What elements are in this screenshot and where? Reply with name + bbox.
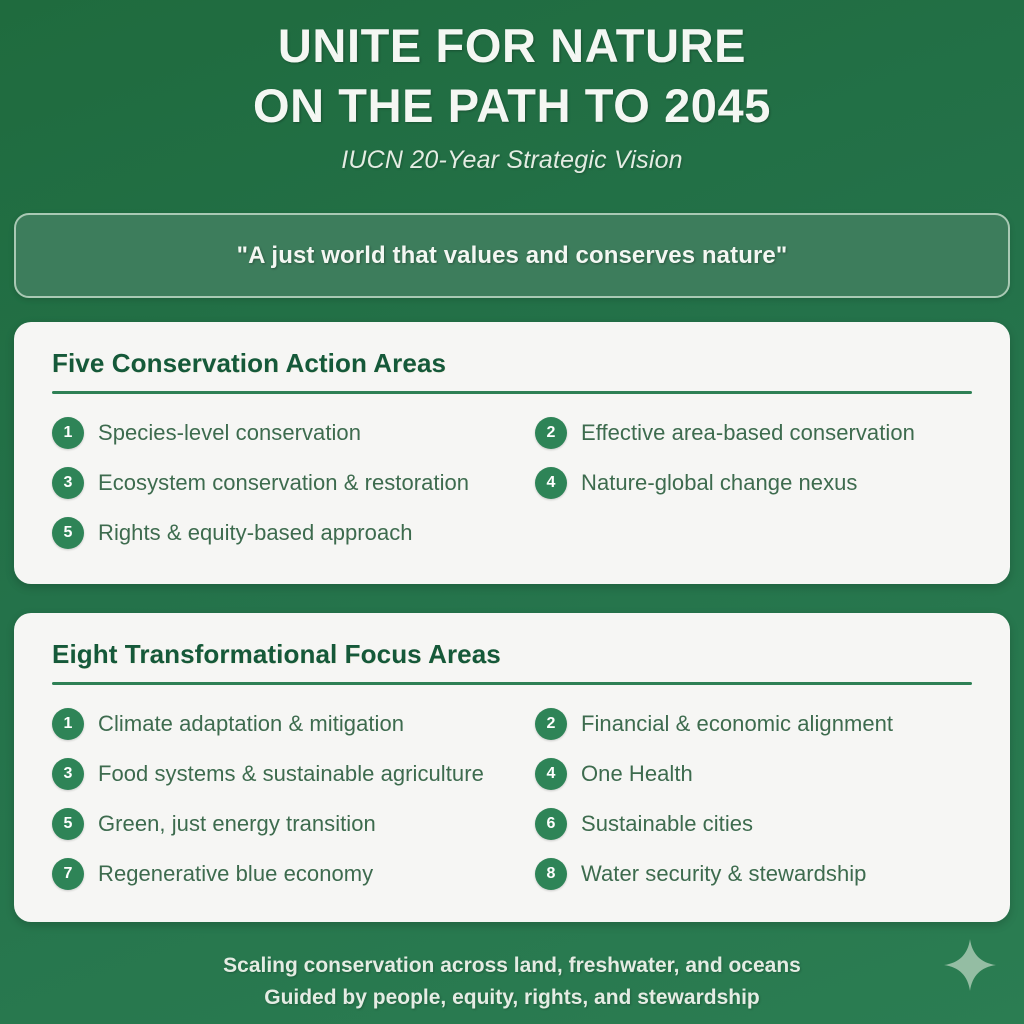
action-areas-list: 1 Species-level conservation 2 Effective… xyxy=(40,408,984,558)
list-item[interactable]: 5 Rights & equity-based approach xyxy=(52,508,535,558)
title-line-1: UNITE FOR NATURE xyxy=(0,16,1024,76)
card-heading-divider xyxy=(52,391,972,394)
sparkle-icon xyxy=(943,938,997,992)
list-item-label: Species-level conservation xyxy=(98,420,361,446)
list-item-label: Food systems & sustainable agriculture xyxy=(98,761,484,787)
list-item-label: Sustainable cities xyxy=(581,811,753,837)
list-item-label: Nature-global change nexus xyxy=(581,470,857,496)
transformational-focus-areas-card: Eight Transformational Focus Areas 1 Cli… xyxy=(14,613,1010,922)
list-item[interactable]: 3 Ecosystem conservation & restoration xyxy=(52,458,535,508)
item-number-badge: 8 xyxy=(535,858,567,890)
list-item[interactable]: 7 Regenerative blue economy xyxy=(52,849,535,899)
list-item-label: Regenerative blue economy xyxy=(98,861,373,887)
card-heading-divider xyxy=(52,682,972,685)
footer-line-1: Scaling conservation across land, freshw… xyxy=(0,950,1024,982)
list-item[interactable]: 8 Water security & stewardship xyxy=(535,849,984,899)
poster-subtitle: IUCN 20-Year Strategic Vision xyxy=(0,146,1024,175)
list-item-label: Financial & economic alignment xyxy=(581,711,893,737)
list-item-spacer xyxy=(535,508,984,558)
list-item[interactable]: 6 Sustainable cities xyxy=(535,799,984,849)
list-item-label: Green, just energy transition xyxy=(98,811,376,837)
item-number-badge: 3 xyxy=(52,758,84,790)
item-number-badge: 5 xyxy=(52,517,84,549)
list-item[interactable]: 2 Financial & economic alignment xyxy=(535,699,984,749)
list-item-label: Ecosystem conservation & restoration xyxy=(98,470,469,496)
list-item[interactable]: 3 Food systems & sustainable agriculture xyxy=(52,749,535,799)
list-item-label: Rights & equity-based approach xyxy=(98,520,413,546)
list-item[interactable]: 1 Climate adaptation & mitigation xyxy=(52,699,535,749)
list-item[interactable]: 5 Green, just energy transition xyxy=(52,799,535,849)
item-number-badge: 2 xyxy=(535,417,567,449)
card-heading-focus-areas: Eight Transformational Focus Areas xyxy=(40,639,984,670)
item-number-badge: 4 xyxy=(535,467,567,499)
item-number-badge: 1 xyxy=(52,417,84,449)
item-number-badge: 3 xyxy=(52,467,84,499)
item-number-badge: 2 xyxy=(535,708,567,740)
vision-statement-text: "A just world that values and conserves … xyxy=(237,242,788,270)
list-item[interactable]: 1 Species-level conservation xyxy=(52,408,535,458)
title-line-2: ON THE PATH TO 2045 xyxy=(0,76,1024,136)
poster-footer: Scaling conservation across land, freshw… xyxy=(0,950,1024,1013)
conservation-action-areas-card: Five Conservation Action Areas 1 Species… xyxy=(14,322,1010,584)
vision-statement-banner: "A just world that values and conserves … xyxy=(14,213,1010,298)
focus-areas-list: 1 Climate adaptation & mitigation 2 Fina… xyxy=(40,699,984,899)
item-number-badge: 1 xyxy=(52,708,84,740)
list-item[interactable]: 4 One Health xyxy=(535,749,984,799)
infographic-poster: UNITE FOR NATURE ON THE PATH TO 2045 IUC… xyxy=(0,0,1024,1024)
list-item-label: Effective area-based conservation xyxy=(581,420,915,446)
item-number-badge: 5 xyxy=(52,808,84,840)
item-number-badge: 4 xyxy=(535,758,567,790)
list-item-label: Water security & stewardship xyxy=(581,861,866,887)
footer-line-2: Guided by people, equity, rights, and st… xyxy=(0,982,1024,1014)
item-number-badge: 6 xyxy=(535,808,567,840)
list-item[interactable]: 2 Effective area-based conservation xyxy=(535,408,984,458)
poster-header: UNITE FOR NATURE ON THE PATH TO 2045 IUC… xyxy=(0,0,1024,175)
list-item-label: One Health xyxy=(581,761,693,787)
list-item-label: Climate adaptation & mitigation xyxy=(98,711,404,737)
list-item[interactable]: 4 Nature-global change nexus xyxy=(535,458,984,508)
item-number-badge: 7 xyxy=(52,858,84,890)
card-heading-action-areas: Five Conservation Action Areas xyxy=(40,348,984,379)
